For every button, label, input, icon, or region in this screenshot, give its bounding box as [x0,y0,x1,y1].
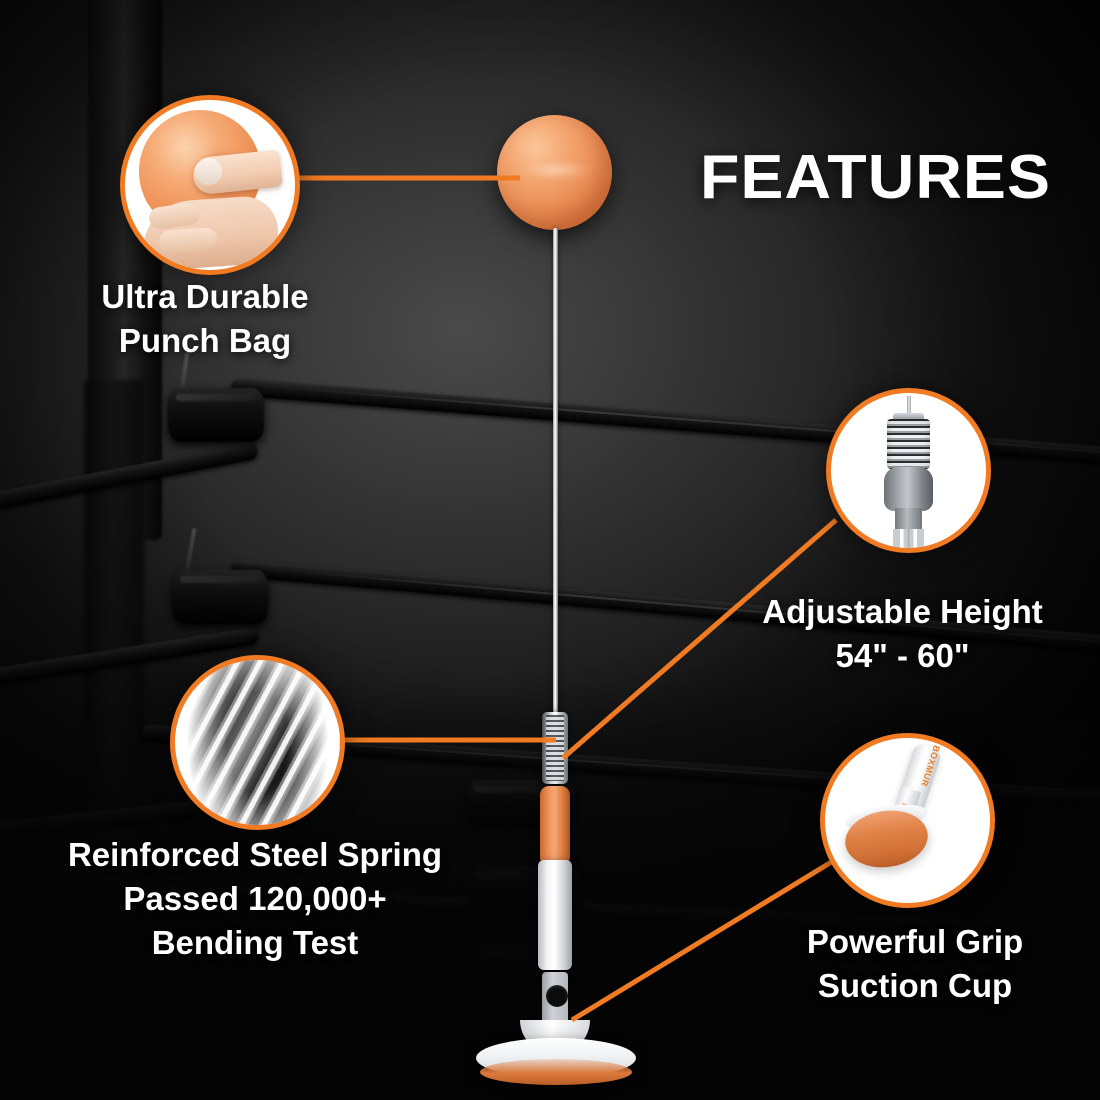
suction-cup-icon: BOXMUR [825,738,990,903]
coil-spring-icon [175,660,340,825]
hand-squeezing-ball-icon [125,100,295,270]
page-title: FEATURES [700,142,1051,213]
steel-spring-label-line1: Reinforced Steel Spring [30,833,480,877]
joint-legs [893,529,924,548]
punch-bag-label-line1: Ultra Durable [45,275,365,319]
punch-bag-circle[interactable] [120,95,300,275]
coil-spring-mask [175,660,340,825]
steel-spring-label-line2: Passed 120,000+ [30,877,480,921]
joint-spring-coil [887,419,930,469]
suction-cup-label-line2: Suction Cup [765,964,1065,1008]
thumb-nail-shape [195,158,222,185]
adjustable-height-label: Adjustable Height 54" - 60" [730,590,1075,678]
spring-joint-icon [831,393,986,548]
adjustable-height-label-line1: Adjustable Height [730,590,1075,634]
features-infographic: Ultra Durable Punch Bag Reinforced Steel… [0,0,1100,1100]
steel-spring-label-line3: Bending Test [30,921,480,965]
suction-cup-label: Powerful Grip Suction Cup [765,920,1065,1008]
punch-bag-label-line2: Punch Bag [45,319,365,363]
adjustable-height-label-line2: 54" - 60" [730,634,1075,678]
joint-gray-collar [884,467,934,510]
suction-cup-circle[interactable]: BOXMUR [820,733,995,908]
steel-spring-label: Reinforced Steel Spring Passed 120,000+ … [30,833,480,965]
steel-spring-circle[interactable] [170,655,345,830]
punch-bag-label: Ultra Durable Punch Bag [45,275,365,363]
hand-finger-shape [158,227,217,253]
adjustable-height-circle[interactable] [826,388,991,553]
suction-cup-label-line1: Powerful Grip [765,920,1065,964]
